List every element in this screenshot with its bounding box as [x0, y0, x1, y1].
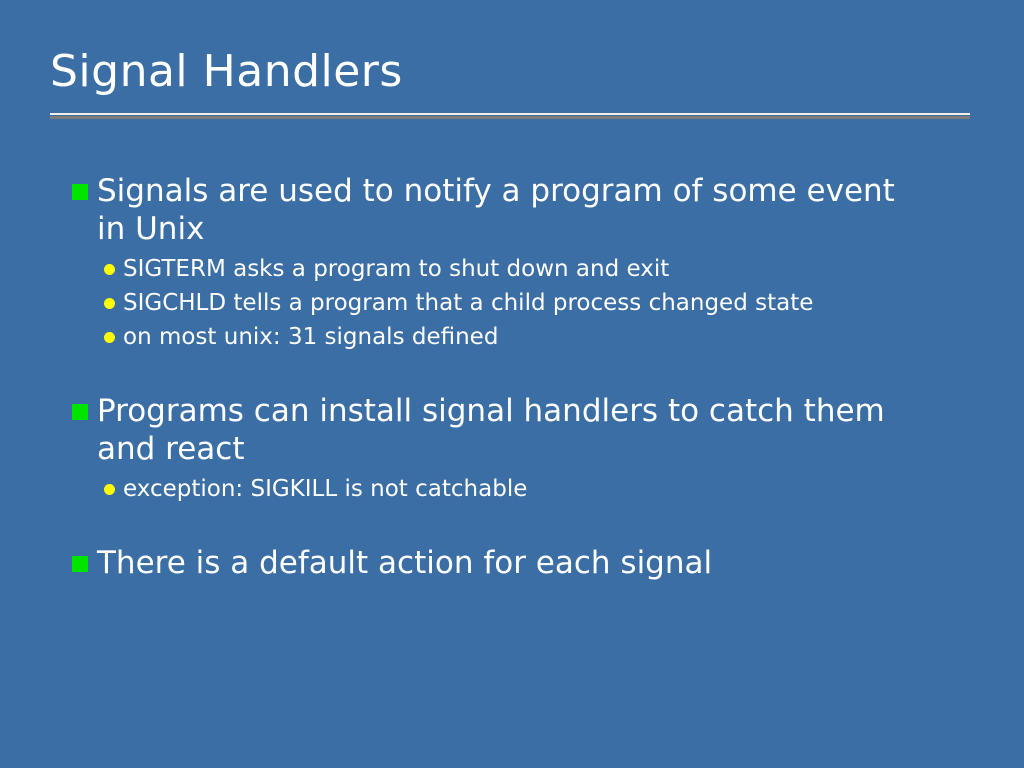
title-divider-shadow	[50, 116, 970, 119]
sub-bullet-list: SIGTERM asks a program to shut down and …	[72, 253, 972, 354]
dot-bullet-icon	[104, 298, 115, 309]
square-bullet-icon	[72, 184, 88, 200]
bullet-item-level2: exception: SIGKILL is not catchable	[104, 473, 972, 506]
bullet-item-level2: SIGCHLD tells a program that a child pro…	[104, 287, 972, 320]
slide-body: Signals are used to notify a program of …	[72, 172, 972, 586]
bullet-group: Signals are used to notify a program of …	[72, 172, 972, 354]
square-bullet-icon	[72, 556, 88, 572]
bullet-item-level2: on most unix: 31 signals defined	[104, 321, 972, 354]
bullet-level2-text: on most unix: 31 signals defined	[123, 321, 972, 354]
title-divider-line	[50, 113, 970, 115]
bullet-item-level2: SIGTERM asks a program to shut down and …	[104, 253, 972, 286]
dot-bullet-icon	[104, 484, 115, 495]
bullet-item-level1: There is a default action for each signa…	[72, 544, 972, 582]
bullet-item-level1: Signals are used to notify a program of …	[72, 172, 972, 248]
bullet-level1-text: There is a default action for each signa…	[97, 544, 925, 582]
bullet-level2-text: SIGTERM asks a program to shut down and …	[123, 253, 972, 286]
bullet-level1-text: Signals are used to notify a program of …	[97, 172, 925, 248]
bullet-item-level1: Programs can install signal handlers to …	[72, 392, 972, 468]
bullet-group: There is a default action for each signa…	[72, 544, 972, 582]
bullet-level1-text: Programs can install signal handlers to …	[97, 392, 925, 468]
title-block: Signal Handlers	[50, 46, 970, 98]
bullet-level2-text: exception: SIGKILL is not catchable	[123, 473, 972, 506]
slide-canvas: Signal Handlers Signals are used to noti…	[0, 0, 1024, 768]
sub-bullet-list: exception: SIGKILL is not catchable	[72, 473, 972, 506]
bullet-group: Programs can install signal handlers to …	[72, 392, 972, 506]
dot-bullet-icon	[104, 332, 115, 343]
bullet-level2-text: SIGCHLD tells a program that a child pro…	[123, 287, 972, 320]
page-title: Signal Handlers	[50, 46, 970, 98]
square-bullet-icon	[72, 404, 88, 420]
dot-bullet-icon	[104, 264, 115, 275]
